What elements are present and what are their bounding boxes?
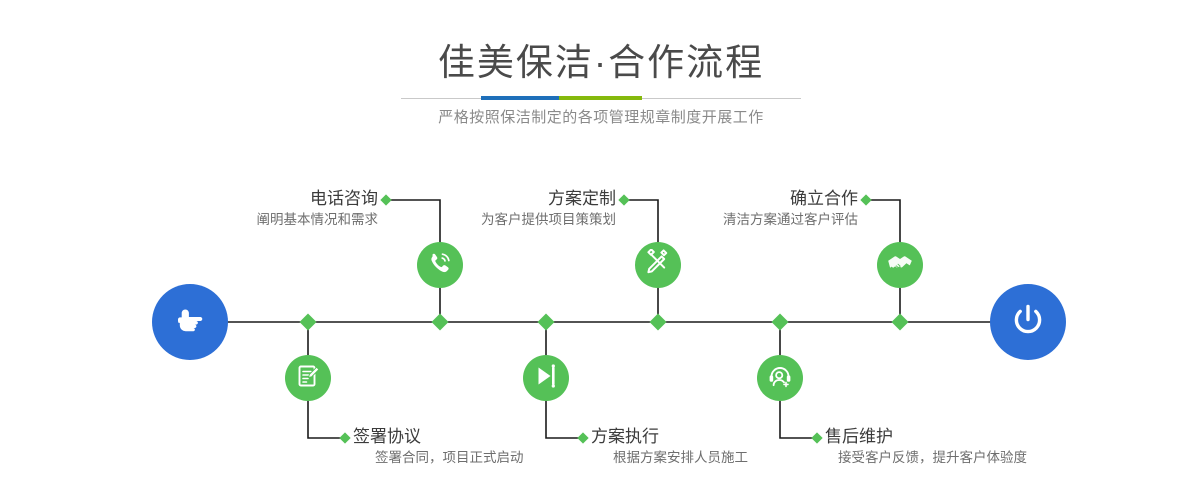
customer-service-icon <box>766 362 794 395</box>
process-flow-infographic: 佳美保洁·合作流程 严格按照保洁制定的各项管理规章制度开展工作 <box>0 0 1202 502</box>
flow-diagram: 电话咨询 阐明基本情况和需求 方案定制 为客户提供项目策策划 确立合作 清洁方案… <box>0 150 1202 502</box>
step-label-phone-call: 电话咨询 阐明基本情况和需求 <box>257 188 379 230</box>
step-label-plan-design: 方案定制 为客户提供项目策策划 <box>481 188 616 230</box>
step-title: 方案执行 <box>591 426 748 448</box>
step-subtitle: 根据方案安排人员施工 <box>591 448 748 468</box>
document-edit-icon <box>294 362 322 395</box>
step-label-partnership: 确立合作 清洁方案通过客户评估 <box>723 188 858 230</box>
phone-call-icon <box>426 249 454 282</box>
step-node-plan-design[interactable] <box>635 242 681 288</box>
page-subtitle: 严格按照保洁制定的各项管理规章制度开展工作 <box>0 107 1202 129</box>
divider-segment-blue <box>481 96 559 100</box>
divider-segment-green <box>559 96 642 100</box>
step-node-after-sales[interactable] <box>757 355 803 401</box>
step-title: 确立合作 <box>723 188 858 210</box>
step-subtitle: 阐明基本情况和需求 <box>257 210 379 230</box>
step-label-plan-execution: 方案执行 根据方案安排人员施工 <box>591 426 748 468</box>
header-section: 佳美保洁·合作流程 严格按照保洁制定的各项管理规章制度开展工作 <box>0 0 1202 150</box>
step-node-plan-execution[interactable] <box>523 355 569 401</box>
play-next-icon <box>532 362 560 395</box>
step-title: 方案定制 <box>481 188 616 210</box>
pen-design-icon <box>644 249 672 282</box>
step-node-partnership[interactable] <box>877 242 923 288</box>
step-subtitle: 为客户提供项目策策划 <box>481 210 616 230</box>
pointing-hand-icon <box>170 300 210 345</box>
flow-start-endcap[interactable] <box>152 284 228 360</box>
step-node-phone-call[interactable] <box>417 242 463 288</box>
step-label-after-sales: 售后维护 接受客户反馈，提升客户体验度 <box>825 426 1027 468</box>
title-divider <box>401 96 801 101</box>
step-subtitle: 接受客户反馈，提升客户体验度 <box>825 448 1027 468</box>
step-subtitle: 签署合同，项目正式启动 <box>353 448 524 468</box>
step-title: 电话咨询 <box>257 188 379 210</box>
step-subtitle: 清洁方案通过客户评估 <box>723 210 858 230</box>
step-title: 售后维护 <box>825 426 1027 448</box>
power-icon <box>1007 299 1049 346</box>
flow-end-endcap[interactable] <box>990 284 1066 360</box>
page-title: 佳美保洁·合作流程 <box>0 40 1202 86</box>
step-label-sign-agreement: 签署协议 签署合同，项目正式启动 <box>353 426 524 468</box>
step-title: 签署协议 <box>353 426 524 448</box>
handshake-icon <box>885 248 915 283</box>
step-node-sign-agreement[interactable] <box>285 355 331 401</box>
